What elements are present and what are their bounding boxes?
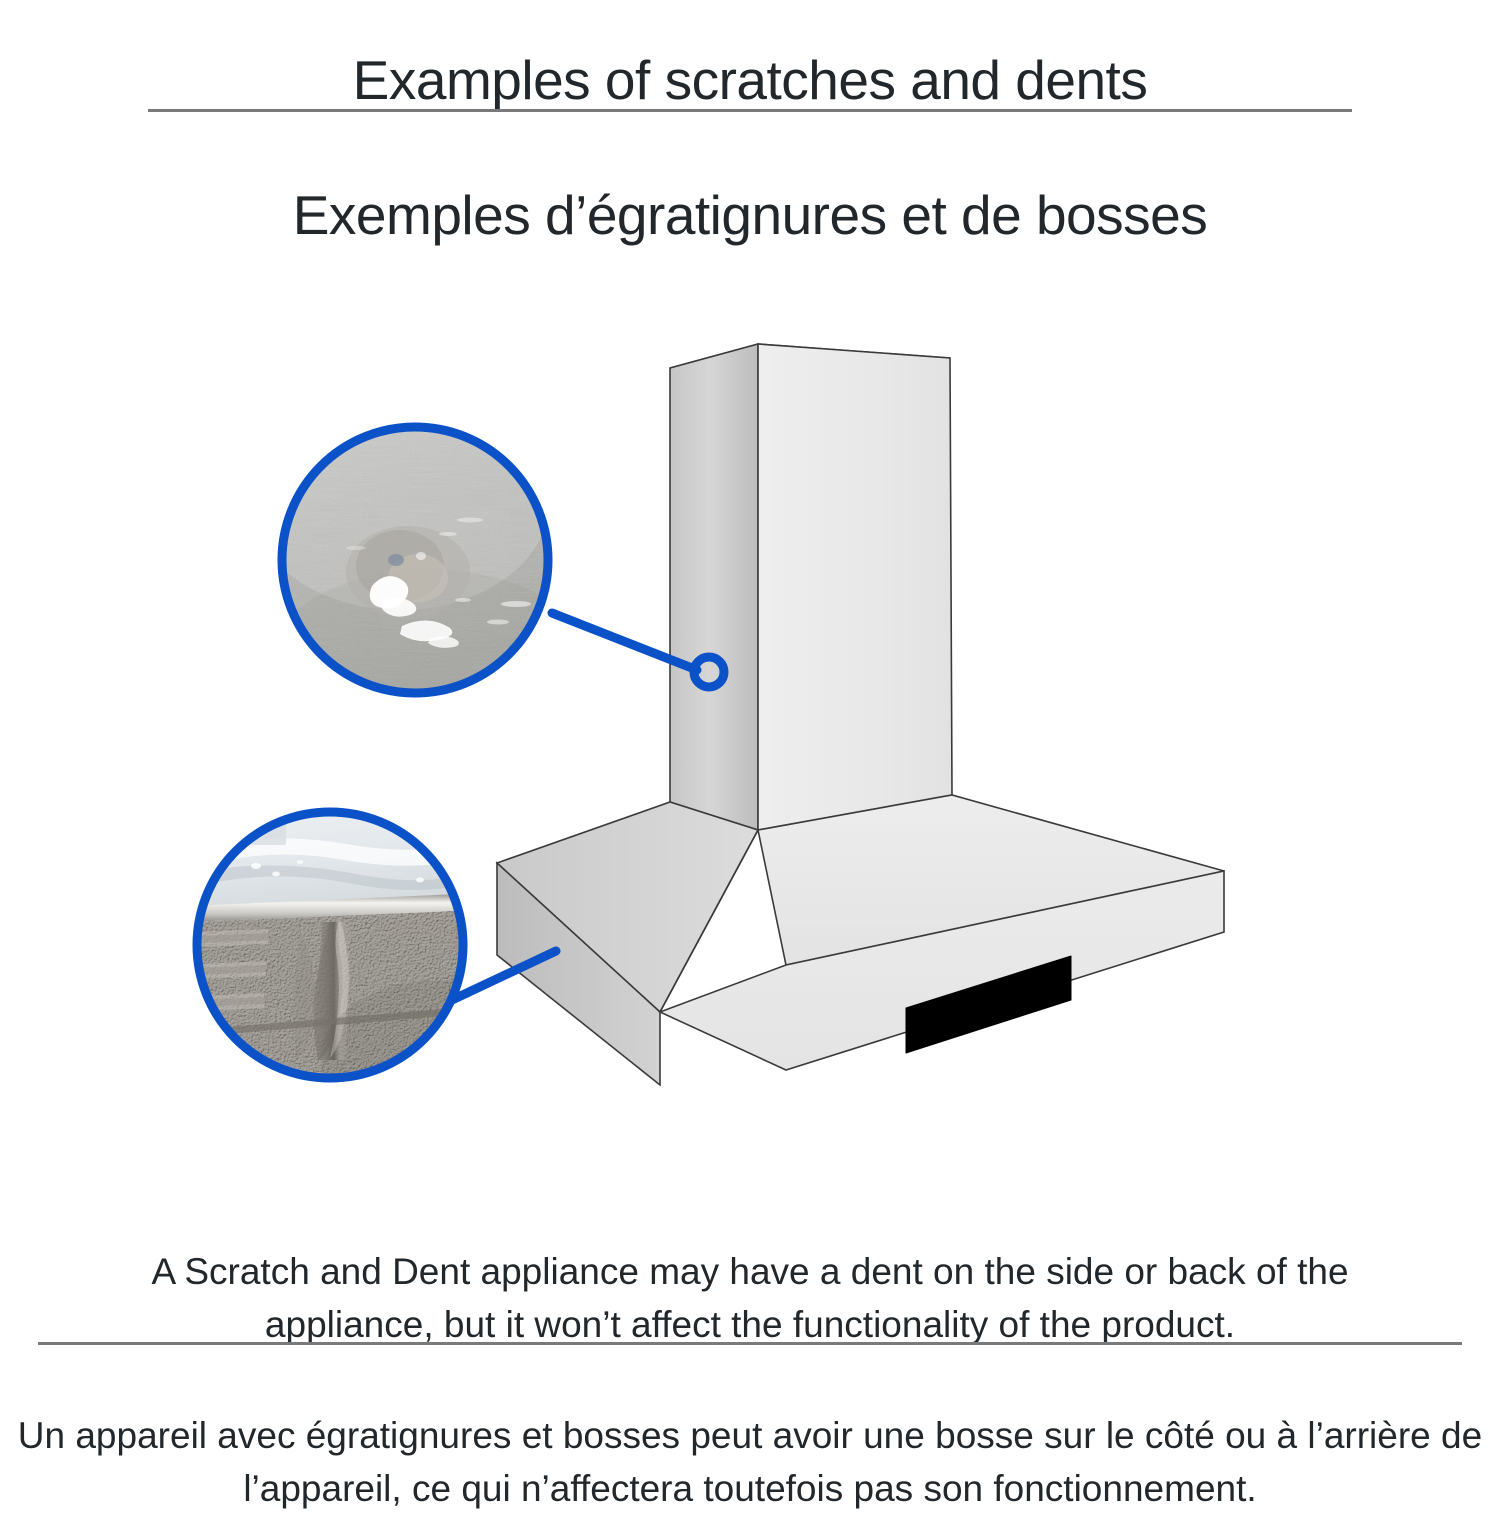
- chimney-front-face: [758, 344, 952, 830]
- scratch-callout-group[interactable]: [250, 390, 724, 750]
- dent-detail-photo: [120, 805, 560, 1140]
- heading-french: Exemples d’égratignures et de bosses: [0, 180, 1500, 250]
- poster-root: Examples of scratches and dents Exemples…: [0, 0, 1500, 1500]
- chimney-side-face: [670, 344, 758, 830]
- divider-bottom: [38, 1342, 1462, 1345]
- dent-callout-group[interactable]: [120, 805, 560, 1140]
- illustration-stage: [0, 250, 1500, 1150]
- range-hood-illustration: [497, 344, 1224, 1085]
- caption-french: Un appareil avec égratignures et bosses …: [12, 1409, 1488, 1515]
- divider-top: [148, 109, 1352, 112]
- heading-english: Examples of scratches and dents: [0, 45, 1500, 115]
- caption-english: A Scratch and Dent appliance may have a …: [120, 1245, 1380, 1351]
